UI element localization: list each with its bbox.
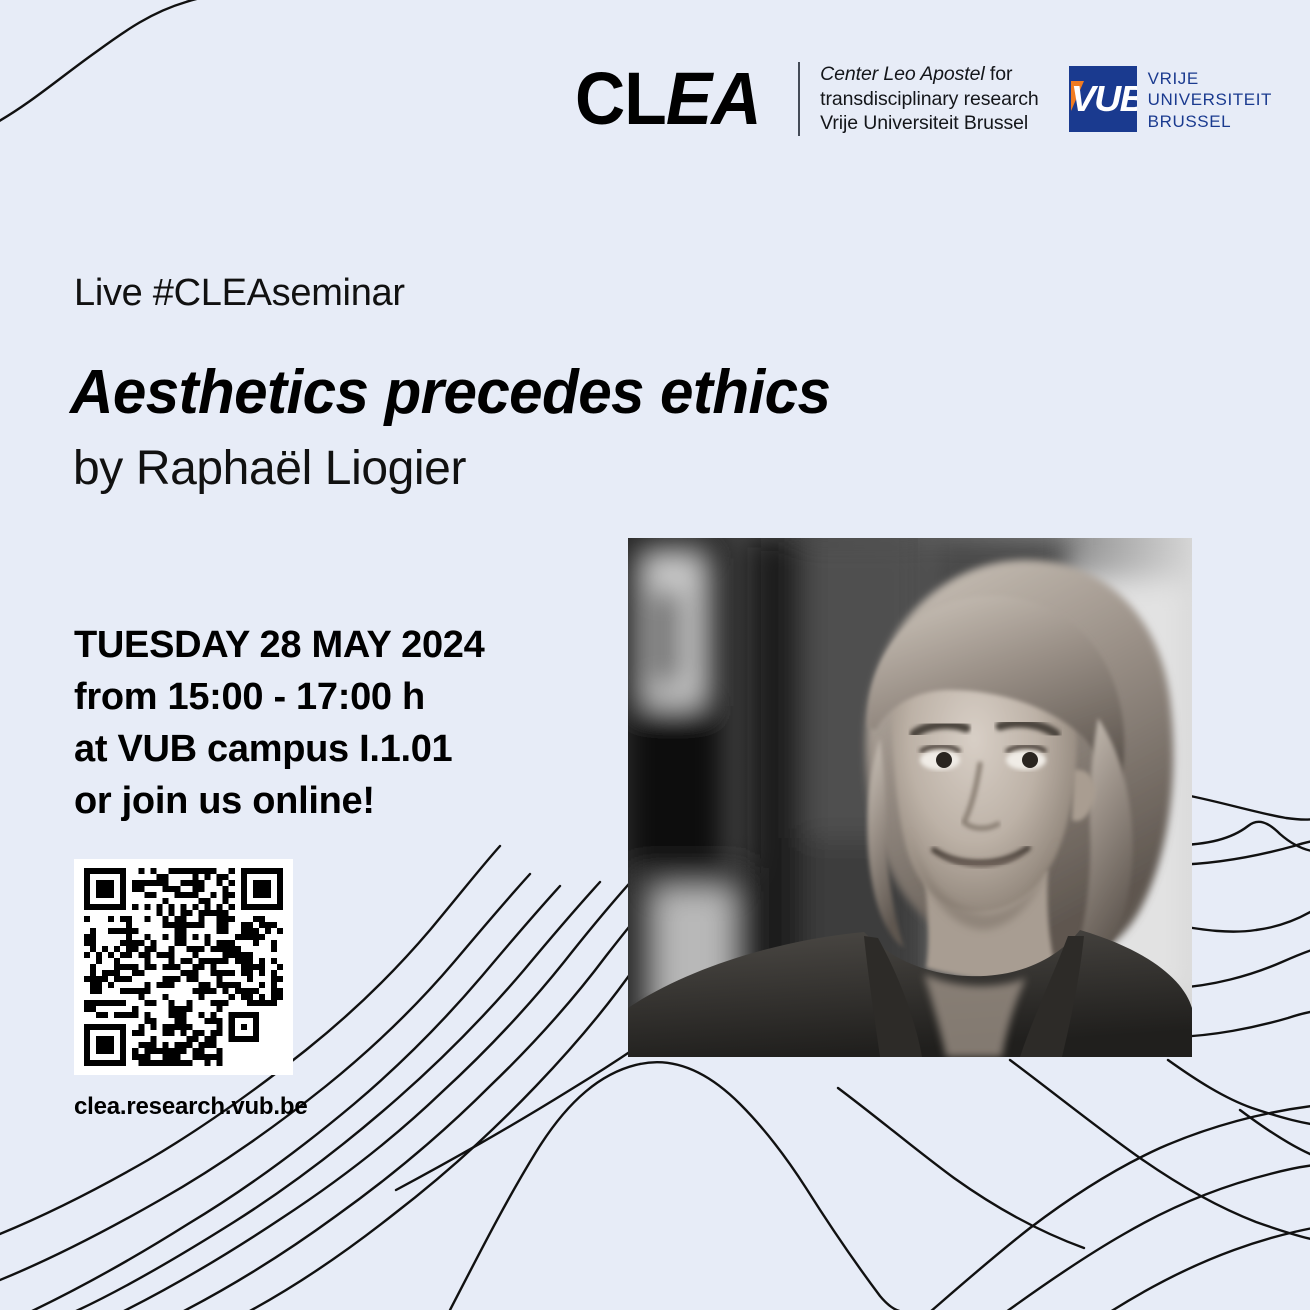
event-detail-time: from 15:00 - 17:00 h: [74, 671, 484, 723]
seminar-poster: CLEA Center Leo Apostel for transdiscipl…: [0, 0, 1310, 1310]
vub-wordmark-line-3: BRUSSEL: [1148, 111, 1272, 133]
website-url[interactable]: clea.research.vub.be: [74, 1093, 307, 1121]
clea-logo-italic: EA: [666, 62, 761, 136]
speaker-photo: [628, 538, 1192, 1057]
event-detail-date: TUESDAY 28 MAY 2024: [74, 619, 484, 671]
speaker-byline: by Raphaël Liogier: [73, 440, 466, 498]
clea-tagline-line-3: Vrije Universiteit Brussel: [820, 111, 1039, 136]
event-kicker: Live #CLEAseminar: [74, 271, 405, 315]
clea-logo: CLEA: [575, 62, 761, 136]
clea-tagline-line-2: transdisciplinary research: [820, 87, 1039, 112]
vub-wordmark-line-2: UNIVERSITEIT: [1148, 89, 1272, 111]
clea-tagline-rest-part: for: [985, 63, 1013, 85]
header-logos: CLEA Center Leo Apostel for transdiscipl…: [575, 62, 1272, 136]
vub-logo-mark-text: VUB: [1070, 81, 1134, 117]
vub-logo-wordmark: VRIJE UNIVERSITEIT BRUSSEL: [1148, 68, 1272, 133]
logo-divider: [798, 62, 800, 136]
vub-logo-mark: VUB: [1069, 66, 1137, 132]
qr-code[interactable]: [74, 859, 293, 1075]
vub-logo: VUB VRIJE UNIVERSITEIT BRUSSEL: [1069, 66, 1272, 133]
clea-logo-upright: CL: [575, 62, 666, 136]
page-title: Aesthetics precedes ethics: [70, 358, 830, 428]
event-detail-location: at VUB campus I.1.01: [74, 723, 484, 775]
qr-code-image: [84, 868, 283, 1066]
clea-tagline-line-1: Center Leo Apostel for: [820, 62, 1039, 87]
vub-wordmark-line-1: VRIJE: [1148, 68, 1272, 90]
clea-tagline-italic-part: Center Leo Apostel: [820, 63, 984, 85]
event-detail-online: or join us online!: [74, 775, 484, 827]
event-details: TUESDAY 28 MAY 2024 from 15:00 - 17:00 h…: [74, 619, 484, 827]
clea-tagline: Center Leo Apostel for transdisciplinary…: [820, 62, 1039, 136]
